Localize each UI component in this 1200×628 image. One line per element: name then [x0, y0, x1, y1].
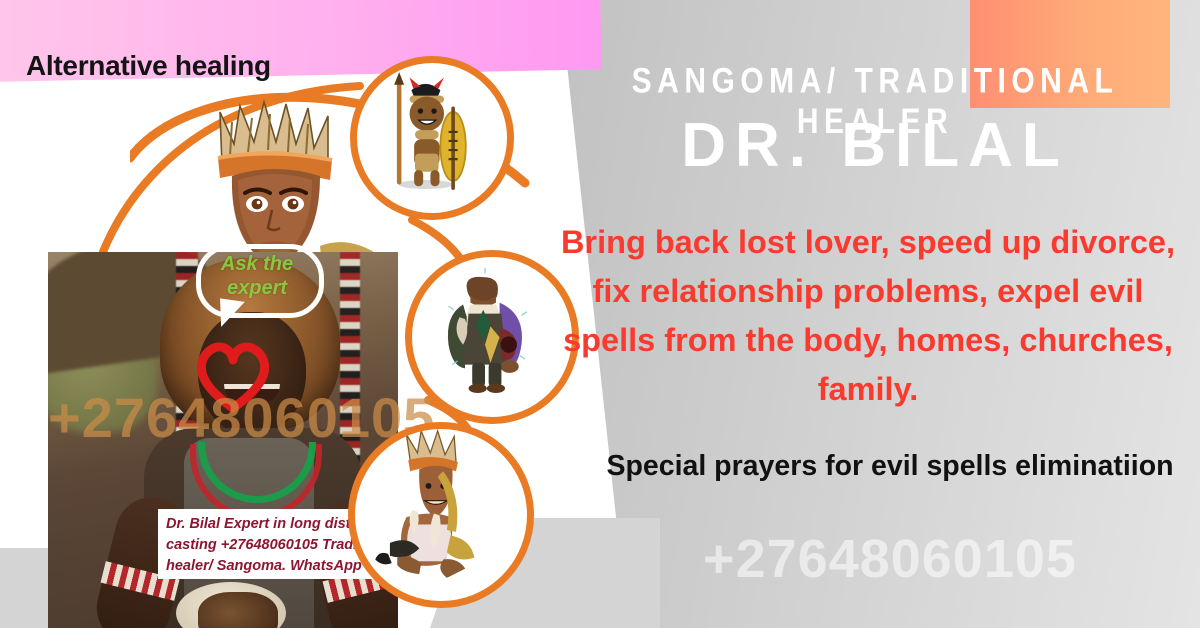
zulu-warrior-cartoon-icon	[357, 63, 493, 199]
crouching-warrior-icon	[355, 429, 513, 587]
speech-bubble-tail	[216, 298, 245, 329]
special-prayers-text: Special prayers for evil spells eliminat…	[600, 444, 1180, 488]
services-text: Bring back lost lover, speed up divorce,…	[548, 218, 1188, 414]
speech-bubble-label: Ask the expert	[205, 252, 309, 300]
poster-brand-name: DR. BILAL	[565, 110, 1185, 181]
photo-watermark-phone: +27648060105	[48, 385, 435, 450]
circle-photo-crouching-warrior[interactable]	[348, 422, 534, 608]
poster-canvas: Alternative healing	[0, 0, 1200, 628]
circle-photo-zulu-warrior[interactable]	[350, 56, 514, 220]
page-title: Alternative healing	[26, 50, 271, 82]
panel-watermark-phone: +27648060105	[600, 528, 1180, 590]
robed-healer-icon	[412, 257, 558, 403]
